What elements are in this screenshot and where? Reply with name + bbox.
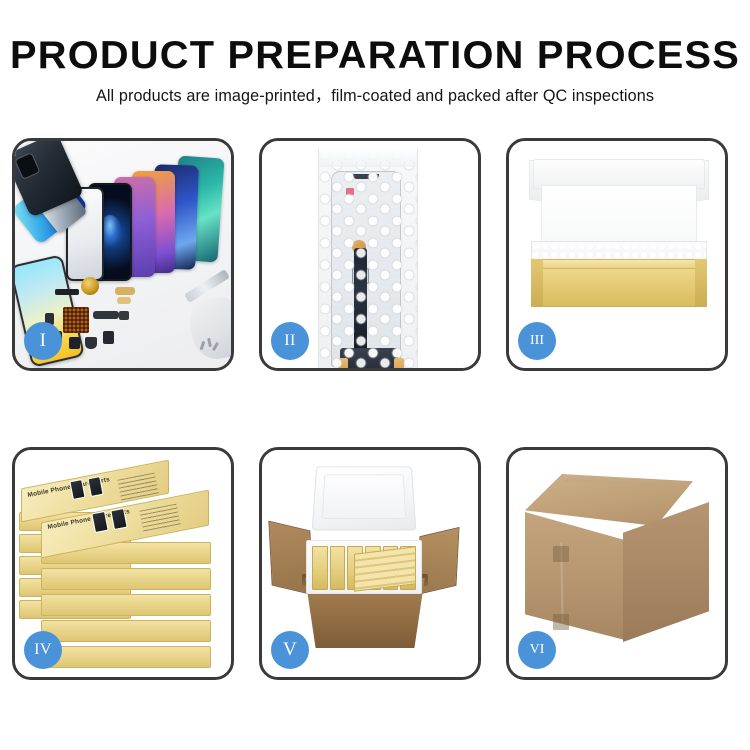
part-flex-cable-2 — [115, 287, 135, 295]
front-box-2 — [41, 568, 211, 590]
step-panel-4[interactable]: Mobile Phone Spare Parts Mobile Phone Sp… — [12, 447, 234, 680]
step-panel-5[interactable]: V — [259, 447, 481, 680]
step-badge-3: III — [518, 322, 556, 360]
part-speaker-coil — [81, 277, 99, 295]
carton-tab-upper — [553, 546, 569, 562]
bubble-texture — [319, 149, 417, 368]
tray-lip — [531, 259, 707, 269]
part-chip-4 — [85, 337, 97, 349]
tray-side-right — [695, 259, 707, 307]
step-panel-1[interactable]: I — [12, 138, 234, 371]
part-earpiece-mesh — [55, 289, 79, 295]
header: PRODUCT PREPARATION PROCESS All products… — [0, 0, 750, 107]
bag-seal — [319, 149, 417, 167]
gold-tray-front — [531, 265, 707, 307]
step-panel-3[interactable]: III — [506, 138, 728, 371]
part-flex-cable-1 — [93, 311, 119, 319]
step-badge-5: V — [271, 631, 309, 669]
tray-side-left — [531, 259, 543, 307]
part-flex-cable-3 — [117, 297, 131, 304]
step-panel-6[interactable]: VI — [506, 447, 728, 680]
part-screws — [199, 337, 221, 353]
step-badge-1: I — [24, 322, 62, 360]
step-badge-2: II — [271, 322, 309, 360]
part-chip-5 — [103, 331, 114, 344]
page-title: PRODUCT PREPARATION PROCESS — [0, 33, 750, 79]
page-subtitle: All products are image-printed，film-coat… — [0, 85, 750, 107]
part-chip-6 — [119, 311, 129, 320]
step-panel-2[interactable]: II — [259, 138, 481, 371]
part-chip-3 — [69, 337, 80, 349]
part-connector-grid — [63, 307, 89, 333]
carton-tab-lower — [553, 614, 569, 630]
step-badge-4: IV — [24, 631, 62, 669]
step-badge-6: VI — [518, 631, 556, 669]
steps-grid: I — [12, 138, 738, 680]
front-box-3 — [41, 594, 211, 616]
front-box-5 — [41, 646, 211, 668]
foam-box-lid — [312, 466, 417, 530]
front-box-4 — [41, 620, 211, 642]
product-preparation-infographic: PRODUCT PREPARATION PROCESS All products… — [0, 0, 750, 750]
gold-boxes-stacked-flat — [354, 546, 416, 592]
bubble-wrap-bag — [318, 149, 418, 368]
